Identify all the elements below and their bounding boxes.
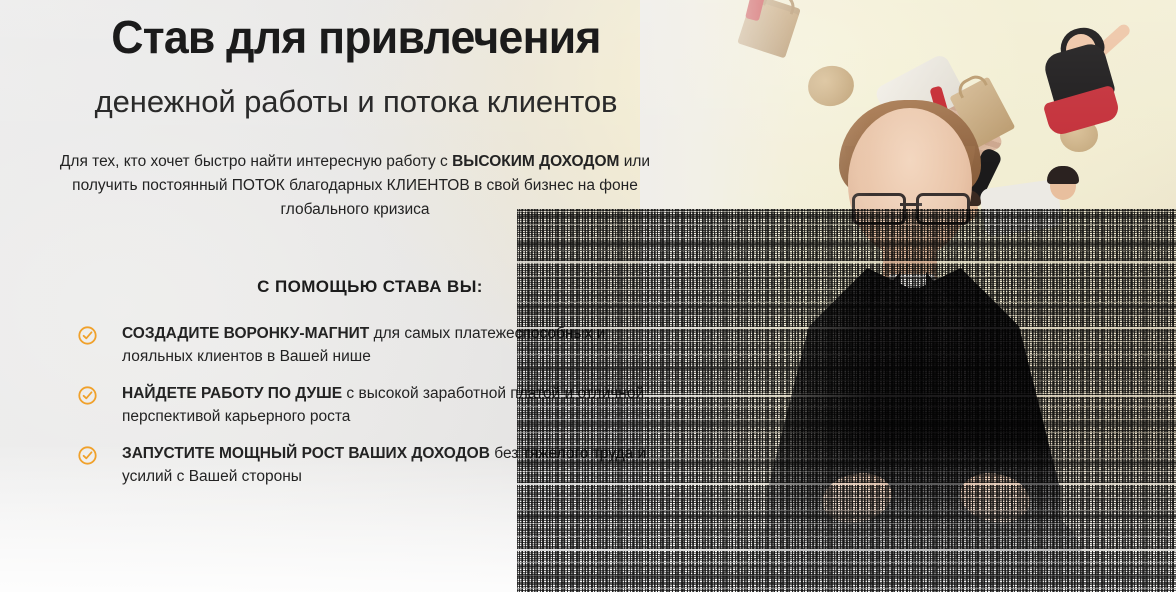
image-corruption-overlay — [517, 209, 1176, 592]
page-title: Став для привлечения — [11, 14, 702, 60]
check-circle-icon — [78, 446, 97, 465]
check-circle-icon — [78, 386, 97, 405]
intro-part-2-bold: ВЫСОКИМ ДОХОДОМ — [452, 153, 619, 170]
page-subtitle: денежной работы и потока клиентов — [0, 84, 712, 120]
list-item-lead: СОЗДАДИТЕ ВОРОНКУ-МАГНИТ — [122, 325, 369, 342]
list-item-lead: ЗАПУСТИТЕ МОЩНЫЙ РОСТ ВАШИХ ДОХОДОВ — [122, 445, 490, 462]
list-item-lead: НАЙДЕТЕ РАБОТУ ПО ДУШЕ — [122, 385, 342, 402]
check-circle-icon — [78, 326, 97, 345]
intro-part-1: Для тех, кто хочет быстро найти интересн… — [60, 153, 452, 170]
promo-banner: Став для привлечения денежной работы и п… — [0, 0, 1176, 592]
